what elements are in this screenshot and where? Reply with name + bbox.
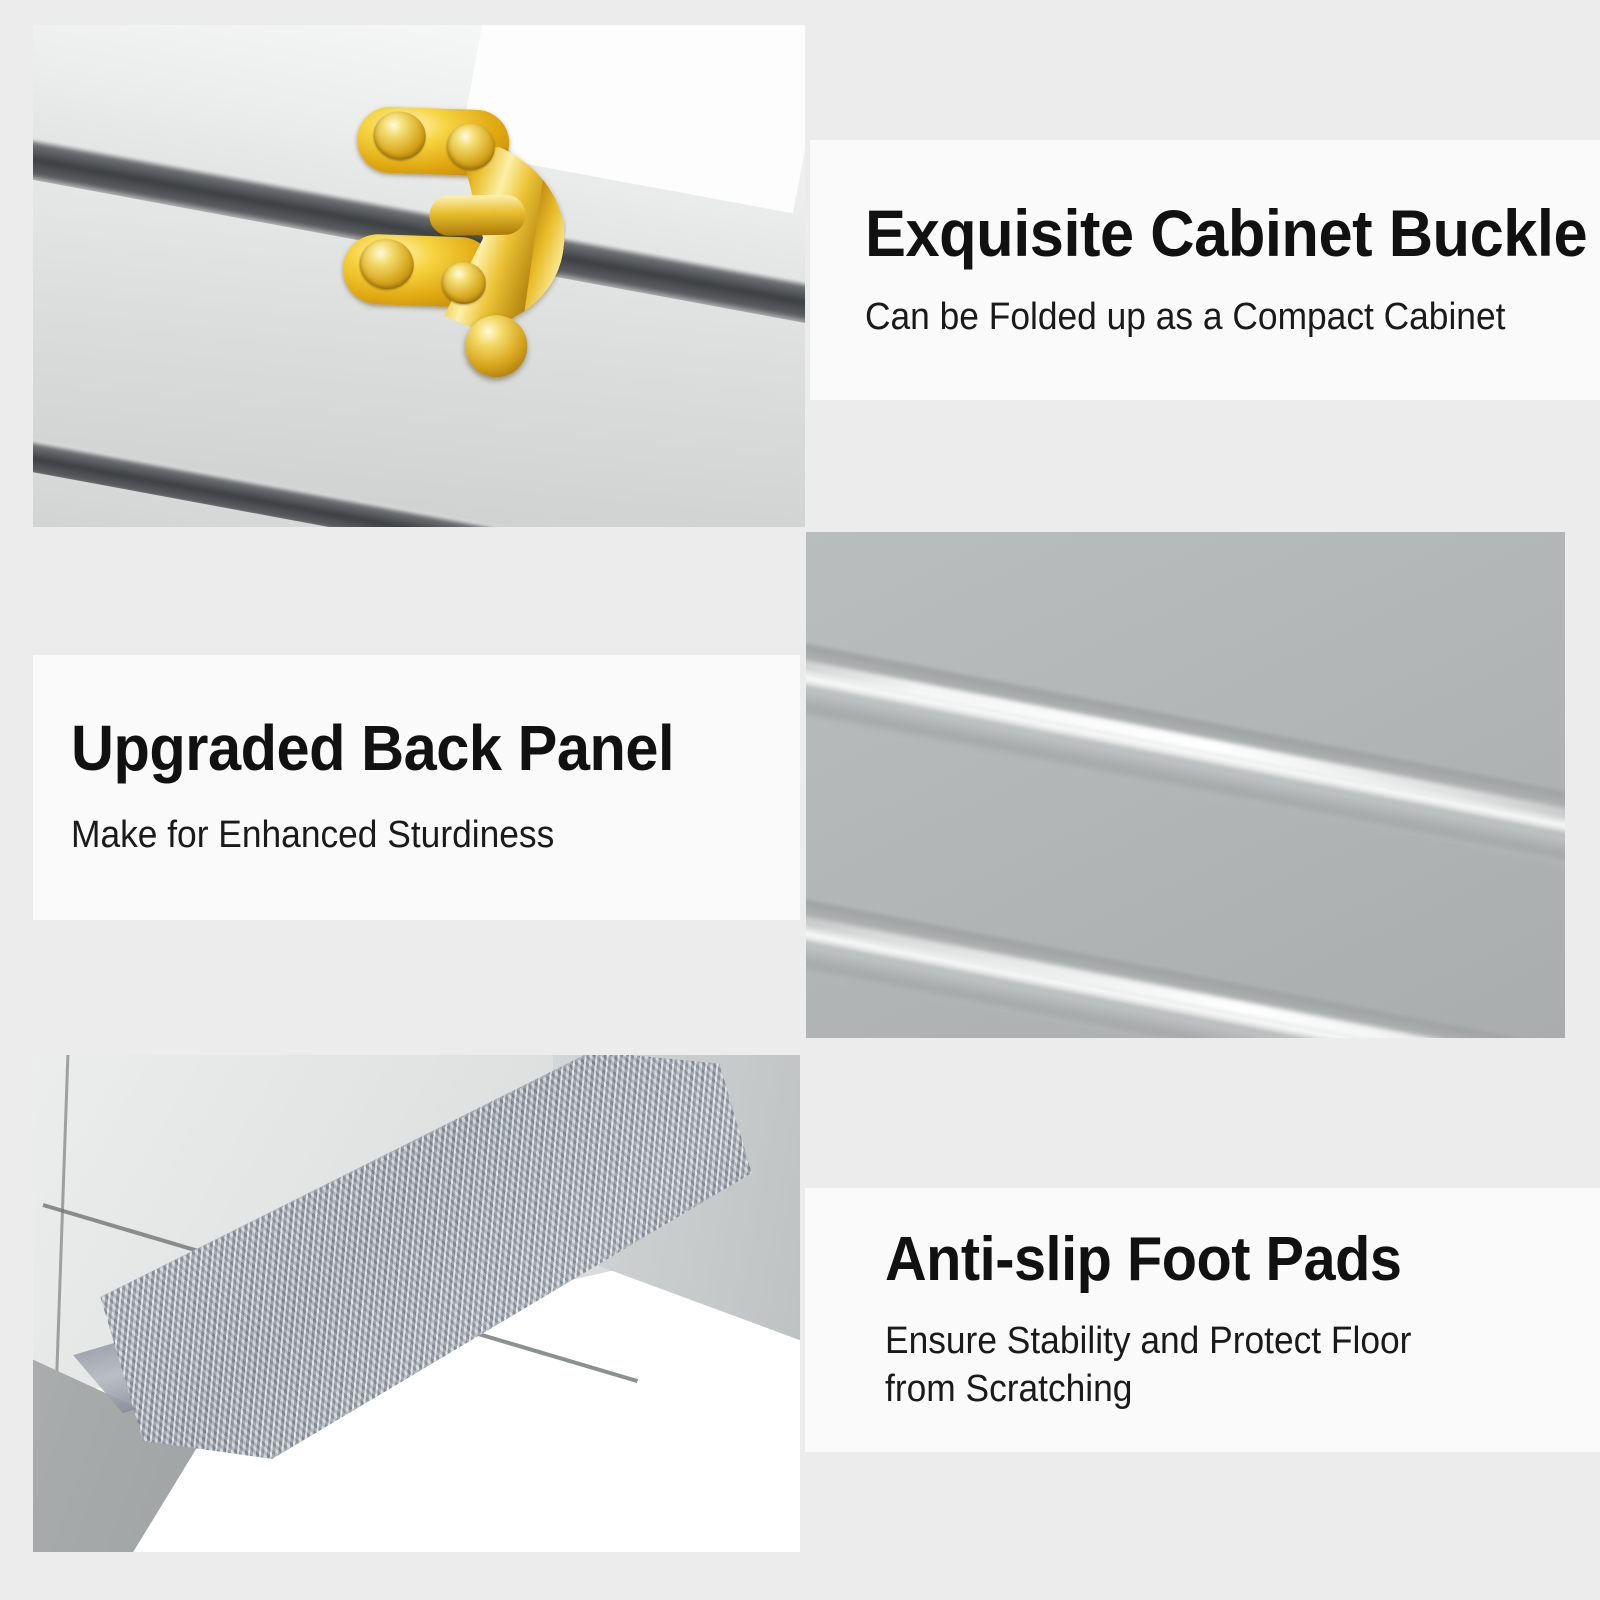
feature-title-foot-pads: Anti-slip Foot Pads [885, 1227, 1550, 1292]
back-panel-ridge-upper [806, 625, 1565, 887]
upgraded-back-panel-photo [806, 532, 1565, 1038]
feature-subtitle-foot-pads: Ensure Stability and Protect Floor from … [885, 1318, 1550, 1413]
feature-subtitle-back-panel: Make for Enhanced Sturdiness [71, 812, 749, 860]
anti-slip-foot-pad-photo [33, 1055, 800, 1552]
infographic-canvas: Exquisite Cabinet Buckle Can be Folded u… [0, 0, 1600, 1600]
gold-cabinet-buckle-photo [33, 25, 805, 527]
feature-title-cabinet-buckle: Exquisite Cabinet Buckle [865, 199, 1549, 268]
feature-card-foot-pads: Anti-slip Foot Pads Ensure Stability and… [805, 1188, 1600, 1452]
back-panel-ridge-lower [806, 881, 1565, 1038]
feature-title-back-panel: Upgraded Back Panel [71, 715, 749, 782]
feature-subtitle-cabinet-buckle: Can be Folded up as a Compact Cabinet [865, 294, 1549, 342]
gold-latch-buckle [312, 96, 606, 395]
feature-card-cabinet-buckle: Exquisite Cabinet Buckle Can be Folded u… [810, 140, 1600, 400]
feature-card-back-panel: Upgraded Back Panel Make for Enhanced St… [33, 655, 800, 920]
latch-hook [429, 194, 526, 236]
